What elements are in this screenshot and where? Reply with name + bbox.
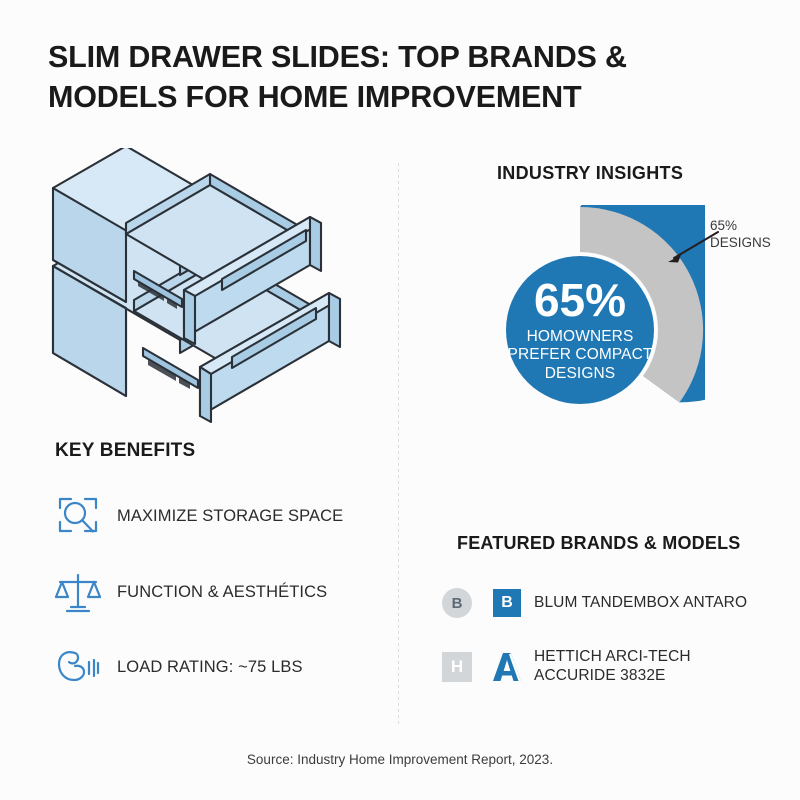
brand-row-blum: B B BLUM TANDEMBOX ANTARO — [430, 588, 747, 618]
benefit-label: MAXIMIZE STORAGE SPACE — [117, 507, 343, 526]
bicep-dumbbell-icon — [55, 645, 101, 689]
column-divider — [398, 163, 399, 725]
brand-name-line2: ACCURIDE 3832E — [534, 667, 691, 686]
featured-brands-heading: FEATURED BRANDS & MODELS — [457, 533, 740, 554]
drawer-cabinet-illustration — [48, 148, 378, 423]
source-footer: Source: Industry Home Improvement Report… — [0, 752, 800, 767]
callout-label: 65% DESIGNS — [710, 218, 771, 252]
brand-badge-letter: B — [442, 588, 472, 618]
callout-line2: DESIGNS — [710, 235, 771, 252]
brand-badge-square: H — [430, 652, 484, 682]
benefit-item-function-aesthetics: FUNCTION & AESTHÉTICS — [55, 570, 327, 614]
benefit-item-load-rating: LOAD RATING: ~75 LBS — [55, 645, 303, 689]
brand-badge-letter: H — [442, 652, 472, 682]
brand-logo-blum: B — [484, 589, 530, 617]
brand-logo-accuride — [484, 651, 530, 683]
benefit-item-maximize-storage: MAXIMIZE STORAGE SPACE — [55, 494, 343, 538]
infographic-canvas: SLIM DRAWER SLIDES: TOP BRANDS & MODELS … — [0, 0, 800, 800]
brand-badge-circle: B — [430, 588, 484, 618]
benefit-label: FUNCTION & AESTHÉTICS — [117, 583, 327, 602]
benefit-label: LOAD RATING: ~75 LBS — [117, 658, 303, 677]
page-title: SLIM DRAWER SLIDES: TOP BRANDS & MODELS … — [48, 38, 688, 117]
industry-insights-heading: INDUSTRY INSIGHTS — [497, 163, 683, 184]
brand-name-line1: BLUM TANDEMBOX ANTARO — [534, 594, 747, 613]
brand-name: HETTICH ARCI-TECH ACCURIDE 3832E — [534, 648, 691, 685]
brand-logo-letter: B — [493, 589, 521, 617]
balance-scale-icon — [55, 570, 101, 614]
brand-row-hettich: H HETTICH ARCI-TECH ACCURIDE 3832E — [430, 648, 691, 685]
magnify-storage-icon — [55, 494, 101, 538]
brand-name-line1: HETTICH ARCI-TECH — [534, 648, 691, 667]
callout-line1: 65% — [710, 218, 771, 235]
key-benefits-heading: KEY BENEFITS — [55, 440, 195, 462]
brand-name: BLUM TANDEMBOX ANTARO — [534, 594, 747, 613]
letter-a-logo-icon — [490, 651, 524, 683]
